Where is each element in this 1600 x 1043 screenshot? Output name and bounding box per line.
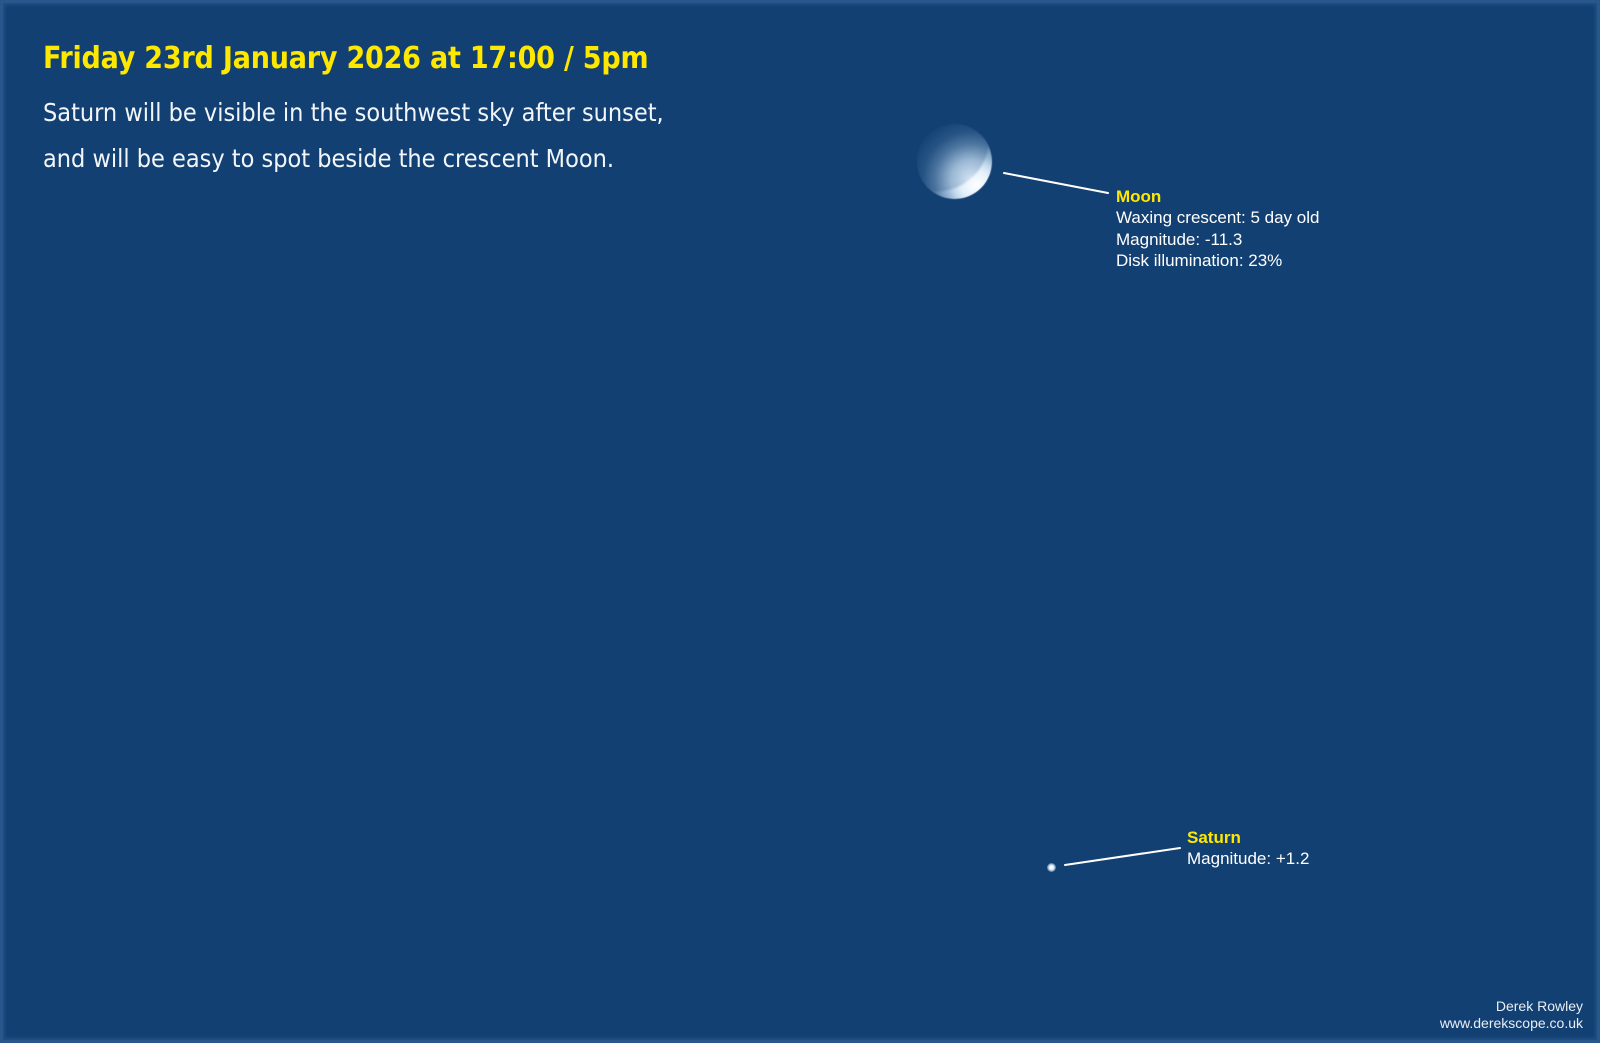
saturn-leader-line (1065, 848, 1180, 865)
description-line-2: and will be easy to spot beside the cres… (43, 136, 803, 182)
credit-author: Derek Rowley (1440, 998, 1583, 1015)
description-line-1: Saturn will be visible in the southwest … (43, 90, 803, 136)
moon-magnitude-row: Magnitude: -11.3 (1116, 229, 1319, 251)
sky-chart-scene: Friday 23rd January 2026 at 17:00 / 5pm … (0, 0, 1600, 1043)
saturn-magnitude-row: Magnitude: +1.2 (1187, 848, 1309, 870)
moon-phase-row: Waxing crescent: 5 day old (1116, 207, 1319, 229)
moon-label: Moon (1116, 186, 1319, 207)
credit-website: www.derekscope.co.uk (1440, 1015, 1583, 1032)
moon-annotation: Moon Waxing crescent: 5 day old Magnitud… (1116, 186, 1319, 272)
faint-star-speck (976, 497, 981, 502)
moon-leader-line (1004, 173, 1108, 193)
saturn-point (1047, 863, 1056, 872)
page-title: Friday 23rd January 2026 at 17:00 / 5pm (43, 41, 803, 76)
saturn-annotation: Saturn Magnitude: +1.2 (1187, 827, 1309, 870)
saturn-label: Saturn (1187, 827, 1309, 848)
moon-illumination-row: Disk illumination: 23% (1116, 250, 1319, 272)
credit-block: Derek Rowley www.derekscope.co.uk (1440, 998, 1583, 1032)
moon-crescent-limb (917, 124, 992, 199)
headline-block: Friday 23rd January 2026 at 17:00 / 5pm … (43, 41, 803, 182)
